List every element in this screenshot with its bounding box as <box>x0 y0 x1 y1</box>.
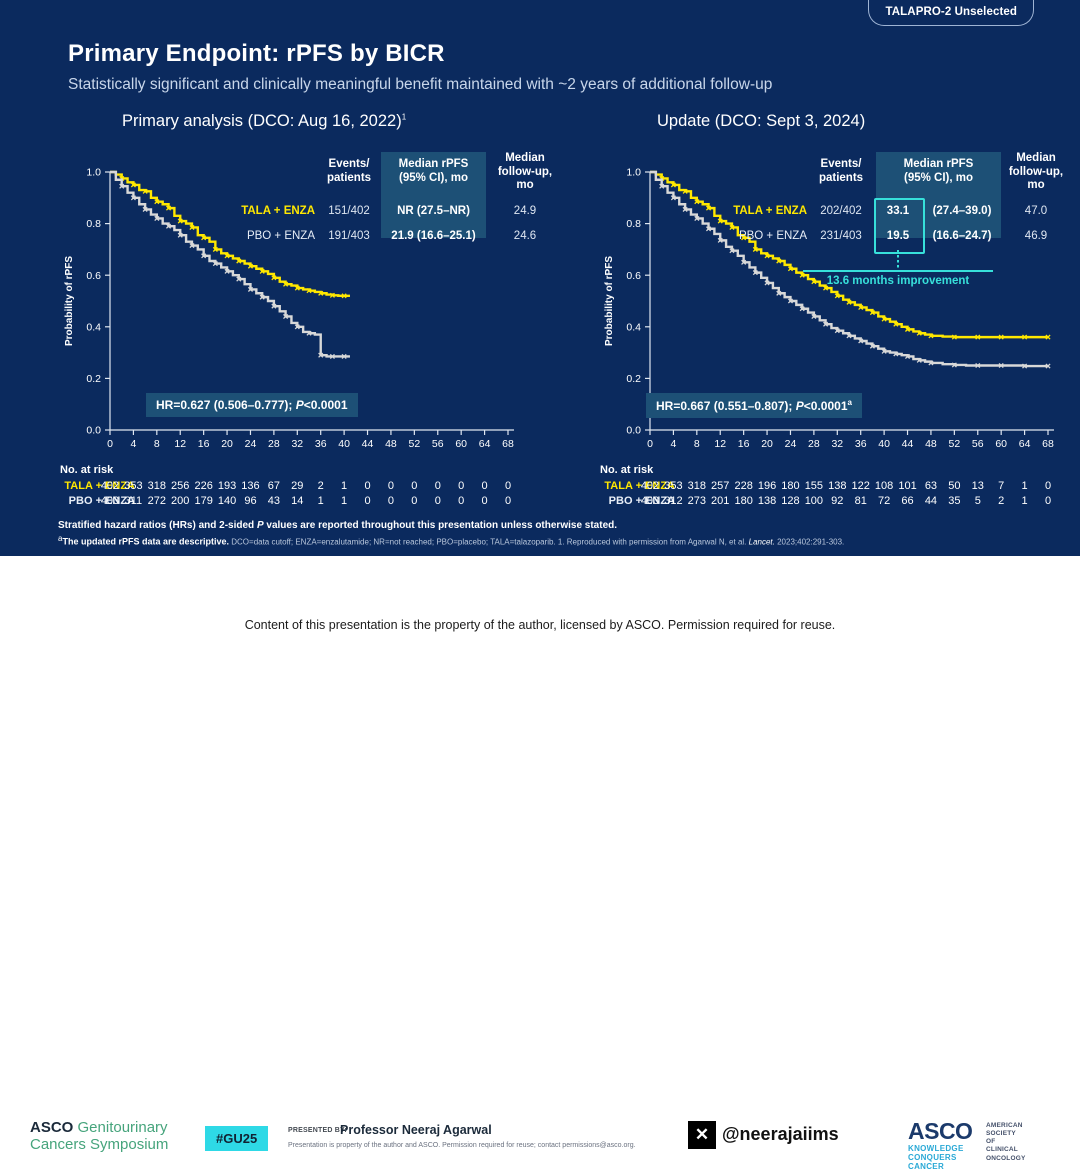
atrisk-value: 228 <box>732 480 756 492</box>
atrisk-value: 1 <box>1013 495 1037 507</box>
right-row-median-ci-pbo: (16.6–24.7) <box>921 230 1003 242</box>
left-row-median-pbo: 21.9 (16.6–25.1) <box>383 230 484 242</box>
atrisk-value: 0 <box>356 495 380 507</box>
left-row-followup-tala: 24.9 <box>489 205 561 217</box>
left-row-events-pbo: 191/403 <box>318 230 380 242</box>
atrisk-value: 66 <box>896 495 920 507</box>
atrisk-value: 402 <box>638 480 662 492</box>
atrisk-value: 312 <box>661 495 685 507</box>
atrisk-value: 318 <box>685 480 709 492</box>
svg-text:8: 8 <box>154 438 160 450</box>
svg-text:20: 20 <box>221 438 233 450</box>
atrisk-value: 138 <box>825 480 849 492</box>
svg-text:0.6: 0.6 <box>626 270 641 282</box>
atrisk-value: 273 <box>685 495 709 507</box>
atrisk-value: 92 <box>825 495 849 507</box>
svg-text:36: 36 <box>855 438 867 450</box>
atrisk-value: 96 <box>238 495 262 507</box>
left-row-events-tala: 151/402 <box>318 205 380 217</box>
svg-text:64: 64 <box>1019 438 1031 450</box>
svg-text:20: 20 <box>761 438 773 450</box>
atrisk-value: 0 <box>356 480 380 492</box>
atrisk-value: 81 <box>849 495 873 507</box>
atrisk-value: 128 <box>778 495 802 507</box>
slide-canvas: TALAPRO-2 Unselected Primary Endpoint: r… <box>0 0 1080 556</box>
right-row-arm-tala: TALA + ENZA <box>692 205 807 217</box>
svg-text:48: 48 <box>925 438 937 450</box>
svg-text:28: 28 <box>808 438 820 450</box>
svg-text:32: 32 <box>291 438 303 450</box>
atrisk-value: 29 <box>285 480 309 492</box>
study-badge: TALAPRO-2 Unselected <box>868 0 1034 26</box>
svg-text:Probability of rPFS: Probability of rPFS <box>64 256 75 346</box>
svg-text:0.0: 0.0 <box>86 425 101 437</box>
right-row-median-ci-tala: (27.4–39.0) <box>921 205 1003 217</box>
x-twitter-icon: ✕ <box>688 1121 716 1149</box>
right-hr-annotation: HR=0.667 (0.551–0.807); P<0.0001a <box>646 393 862 418</box>
svg-text:56: 56 <box>432 438 444 450</box>
page-subtitle: Statistically significant and clinically… <box>68 76 772 94</box>
atrisk-value: 100 <box>802 495 826 507</box>
atrisk-value: 0 <box>496 480 520 492</box>
x-handle: @neerajaiims <box>722 1124 839 1145</box>
atrisk-value: 0 <box>426 495 450 507</box>
svg-text:60: 60 <box>455 438 467 450</box>
atrisk-value: 0 <box>496 495 520 507</box>
atrisk-value: 1 <box>309 495 333 507</box>
right-row-events-tala: 202/402 <box>810 205 872 217</box>
svg-text:28: 28 <box>268 438 280 450</box>
svg-text:48: 48 <box>385 438 397 450</box>
svg-text:0.2: 0.2 <box>626 373 641 385</box>
svg-text:4: 4 <box>670 438 676 450</box>
asco-logo: ASCO AMERICAN SOCIETY OF CLINICAL ONCOLO… <box>908 1118 972 1145</box>
presented-by-label: PRESENTED BY: <box>288 1127 347 1134</box>
atrisk-value: 0 <box>449 480 473 492</box>
atrisk-value: 14 <box>285 495 309 507</box>
svg-text:1.0: 1.0 <box>626 167 641 179</box>
svg-text:68: 68 <box>502 438 514 450</box>
svg-text:0.4: 0.4 <box>86 321 101 333</box>
svg-text:44: 44 <box>362 438 374 450</box>
right-row-followup-pbo: 46.9 <box>1000 230 1072 242</box>
atrisk-value: 256 <box>168 480 192 492</box>
svg-text:12: 12 <box>714 438 726 450</box>
atrisk-value: 0 <box>379 480 403 492</box>
svg-text:16: 16 <box>738 438 750 450</box>
atrisk-value: 5 <box>966 495 990 507</box>
svg-text:44: 44 <box>902 438 914 450</box>
atrisk-value: 403 <box>98 495 122 507</box>
svg-text:36: 36 <box>315 438 327 450</box>
right-row-events-pbo: 231/403 <box>810 230 872 242</box>
atrisk-value: 0 <box>1036 480 1060 492</box>
svg-text:Probability of rPFS: Probability of rPFS <box>604 256 615 346</box>
atrisk-value: 402 <box>98 480 122 492</box>
left-row-arm-tala: TALA + ENZA <box>200 205 315 217</box>
atrisk-value: 155 <box>802 480 826 492</box>
svg-text:8: 8 <box>694 438 700 450</box>
atrisk-value: 136 <box>238 480 262 492</box>
right-header-followup: Median follow-up, mo <box>1000 152 1072 193</box>
callout-connector <box>897 250 899 270</box>
svg-text:0: 0 <box>107 438 113 450</box>
right-header-events: Events/ patients <box>810 158 872 185</box>
left-hr-annotation: HR=0.627 (0.506–0.777); P<0.0001 <box>146 393 358 417</box>
left-header-followup: Median follow-up, mo <box>489 152 561 193</box>
svg-text:16: 16 <box>198 438 210 450</box>
atrisk-value: 353 <box>121 480 145 492</box>
footer-bar: ASCO Genitourinary Cancers Symposium #GU… <box>0 556 1080 606</box>
callout-underline <box>803 270 993 272</box>
atrisk-value: 0 <box>402 495 426 507</box>
right-row-followup-tala: 47.0 <box>1000 205 1072 217</box>
atrisk-value: 1 <box>332 495 356 507</box>
atrisk-value: 0 <box>402 480 426 492</box>
atrisk-value: 35 <box>942 495 966 507</box>
atrisk-value: 0 <box>473 495 497 507</box>
atrisk-value: 179 <box>192 495 216 507</box>
svg-text:0.8: 0.8 <box>86 218 101 230</box>
right-row-arm-pbo: PBO + ENZA <box>692 230 807 242</box>
left-header-events: Events/ patients <box>318 158 380 185</box>
asco-subtitle: AMERICAN SOCIETY OF CLINICAL ONCOLOGY <box>986 1122 1026 1163</box>
left-panel-title: Primary analysis (DCO: Aug 16, 2022)1 <box>122 112 406 131</box>
svg-text:0.0: 0.0 <box>626 425 641 437</box>
right-atrisk-title: No. at risk <box>600 464 653 476</box>
atrisk-value: 108 <box>872 480 896 492</box>
page-title: Primary Endpoint: rPFS by BICR <box>68 40 445 68</box>
atrisk-value: 138 <box>755 495 779 507</box>
svg-text:60: 60 <box>995 438 1007 450</box>
asco-gu-logo: ASCO Genitourinary Cancers Symposium <box>30 1120 168 1154</box>
atrisk-value: 2 <box>989 495 1013 507</box>
atrisk-value: 50 <box>942 480 966 492</box>
improvement-label: 13.6 months improvement <box>803 275 993 287</box>
atrisk-value: 201 <box>708 495 732 507</box>
svg-text:0.2: 0.2 <box>86 373 101 385</box>
atrisk-value: 257 <box>708 480 732 492</box>
atrisk-value: 0 <box>449 495 473 507</box>
atrisk-value: 353 <box>661 480 685 492</box>
atrisk-value: 403 <box>638 495 662 507</box>
svg-text:52: 52 <box>949 438 961 450</box>
atrisk-value: 43 <box>262 495 286 507</box>
atrisk-value: 311 <box>121 495 145 507</box>
svg-text:40: 40 <box>878 438 890 450</box>
svg-text:40: 40 <box>338 438 350 450</box>
atrisk-value: 7 <box>989 480 1013 492</box>
footnote-line-1: Stratified hazard ratios (HRs) and 2-sid… <box>58 520 617 531</box>
svg-text:0: 0 <box>647 438 653 450</box>
svg-text:0.6: 0.6 <box>86 270 101 282</box>
atrisk-value: 180 <box>732 495 756 507</box>
presenter-name: Professor Neeraj Agarwal <box>340 1123 492 1137</box>
atrisk-value: 1 <box>332 480 356 492</box>
atrisk-value: 63 <box>919 480 943 492</box>
atrisk-value: 2 <box>309 480 333 492</box>
right-header-median: Median rPFS (95% CI), mo <box>878 158 999 185</box>
left-header-median: Median rPFS (95% CI), mo <box>383 158 484 185</box>
atrisk-value: 13 <box>966 480 990 492</box>
median-comparison-box <box>874 198 925 254</box>
svg-text:1.0: 1.0 <box>86 167 101 179</box>
atrisk-value: 44 <box>919 495 943 507</box>
left-row-arm-pbo: PBO + ENZA <box>200 230 315 242</box>
svg-text:52: 52 <box>409 438 421 450</box>
atrisk-value: 0 <box>473 480 497 492</box>
left-row-median-tala: NR (27.5–NR) <box>383 205 484 217</box>
svg-text:68: 68 <box>1042 438 1054 450</box>
permission-note: Presentation is property of the author a… <box>288 1142 636 1149</box>
slide-caption: Content of this presentation is the prop… <box>0 618 1080 632</box>
atrisk-value: 1 <box>1013 480 1037 492</box>
left-row-followup-pbo: 24.6 <box>489 230 561 242</box>
atrisk-value: 200 <box>168 495 192 507</box>
svg-text:24: 24 <box>245 438 257 450</box>
right-panel-title: Update (DCO: Sept 3, 2024) <box>657 112 865 131</box>
footnote-line-2: aThe updated rPFS data are descriptive. … <box>58 534 844 547</box>
atrisk-value: 0 <box>1036 495 1060 507</box>
left-atrisk-title: No. at risk <box>60 464 113 476</box>
svg-text:32: 32 <box>831 438 843 450</box>
svg-text:0.4: 0.4 <box>626 321 641 333</box>
svg-text:0.8: 0.8 <box>626 218 641 230</box>
atrisk-value: 272 <box>145 495 169 507</box>
svg-text:12: 12 <box>174 438 186 450</box>
svg-text:4: 4 <box>130 438 136 450</box>
atrisk-value: 226 <box>192 480 216 492</box>
atrisk-value: 67 <box>262 480 286 492</box>
svg-text:24: 24 <box>785 438 797 450</box>
atrisk-value: 180 <box>778 480 802 492</box>
atrisk-value: 0 <box>426 480 450 492</box>
hashtag-badge: #GU25 <box>205 1126 268 1151</box>
atrisk-value: 318 <box>145 480 169 492</box>
atrisk-value: 101 <box>896 480 920 492</box>
atrisk-value: 0 <box>379 495 403 507</box>
atrisk-value: 140 <box>215 495 239 507</box>
atrisk-value: 122 <box>849 480 873 492</box>
atrisk-value: 193 <box>215 480 239 492</box>
atrisk-value: 72 <box>872 495 896 507</box>
svg-text:64: 64 <box>479 438 491 450</box>
svg-text:56: 56 <box>972 438 984 450</box>
atrisk-value: 196 <box>755 480 779 492</box>
